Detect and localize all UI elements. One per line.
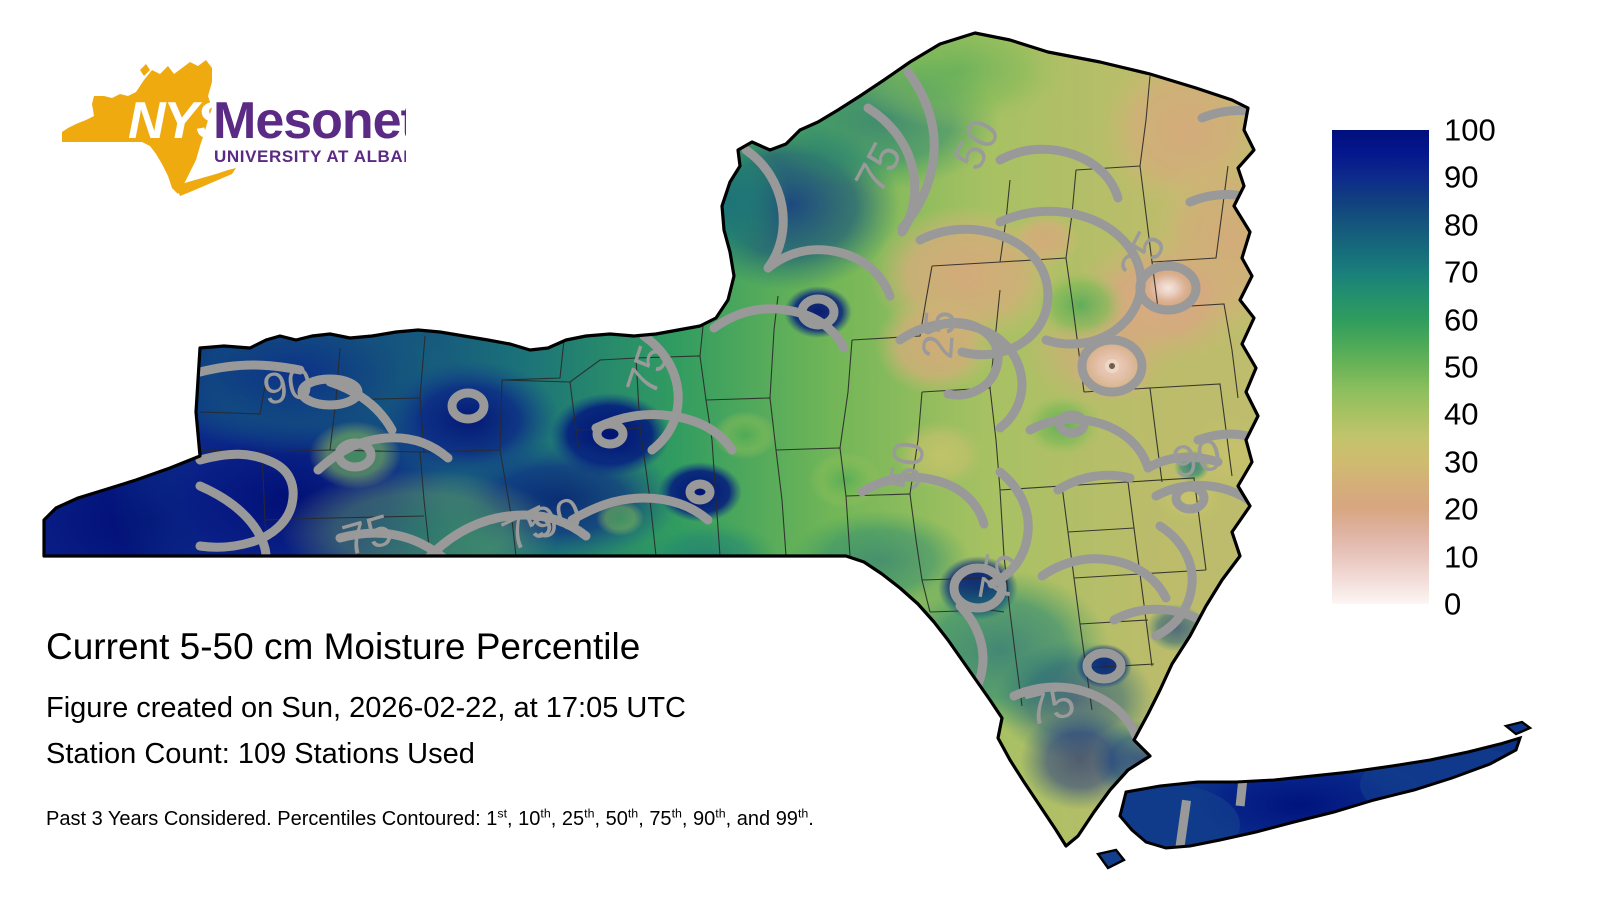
colorbar-tick-10: 10 [1444,541,1478,572]
station-count-label: Station Count: 109 Stations Used [46,736,1046,772]
ordinal-suffix: th [798,806,808,820]
ordinal-suffix: th [584,806,594,820]
colorbar-tick-20: 20 [1444,494,1478,525]
moisture-percentile-colorbar [1332,130,1429,604]
logo-subtitle-text: UNIVERSITY AT ALBANY [214,147,406,166]
svg-text:90: 90 [1168,430,1226,488]
colorbar-group: 1009080706050403020100 [1332,130,1600,630]
ordinal-suffix: st [497,806,507,820]
figure-caption: Current 5-50 cm Moisture Percentile Figu… [46,624,1046,832]
colorbar-tick-0: 0 [1444,589,1461,620]
svg-text:25: 25 [913,308,965,360]
svg-text:90: 90 [259,358,316,415]
ordinal-suffix: th [540,806,550,820]
figure-created-timestamp: Figure created on Sun, 2026-02-22, at 17… [46,690,1046,726]
colorbar-tick-80: 80 [1444,209,1478,240]
ordinal-suffix: th [672,806,682,820]
svg-text:50: 50 [879,438,934,493]
logo-mesonet-text: Mesonet [213,92,406,150]
colorbar-tick-70: 70 [1444,257,1478,288]
colorbar-tick-90: 90 [1444,162,1478,193]
svg-text:75: 75 [970,549,1027,606]
colorbar-tick-40: 40 [1444,399,1478,430]
colorbar-tick-30: 30 [1444,446,1478,477]
colorbar-tick-50: 50 [1444,352,1478,383]
figure-title: Current 5-50 cm Moisture Percentile [46,624,1046,670]
colorbar-ticks: 1009080706050403020100 [1444,130,1594,604]
ordinal-suffix: th [715,806,725,820]
ordinal-suffix: th [628,806,638,820]
nys-mesonet-logo: NYS Mesonet UNIVERSITY AT ALBANY [56,52,406,202]
contour-levels-note: Past 3 Years Considered. Percentiles Con… [46,806,1046,832]
colorbar-tick-60: 60 [1444,304,1478,335]
colorbar-tick-100: 100 [1444,115,1496,146]
